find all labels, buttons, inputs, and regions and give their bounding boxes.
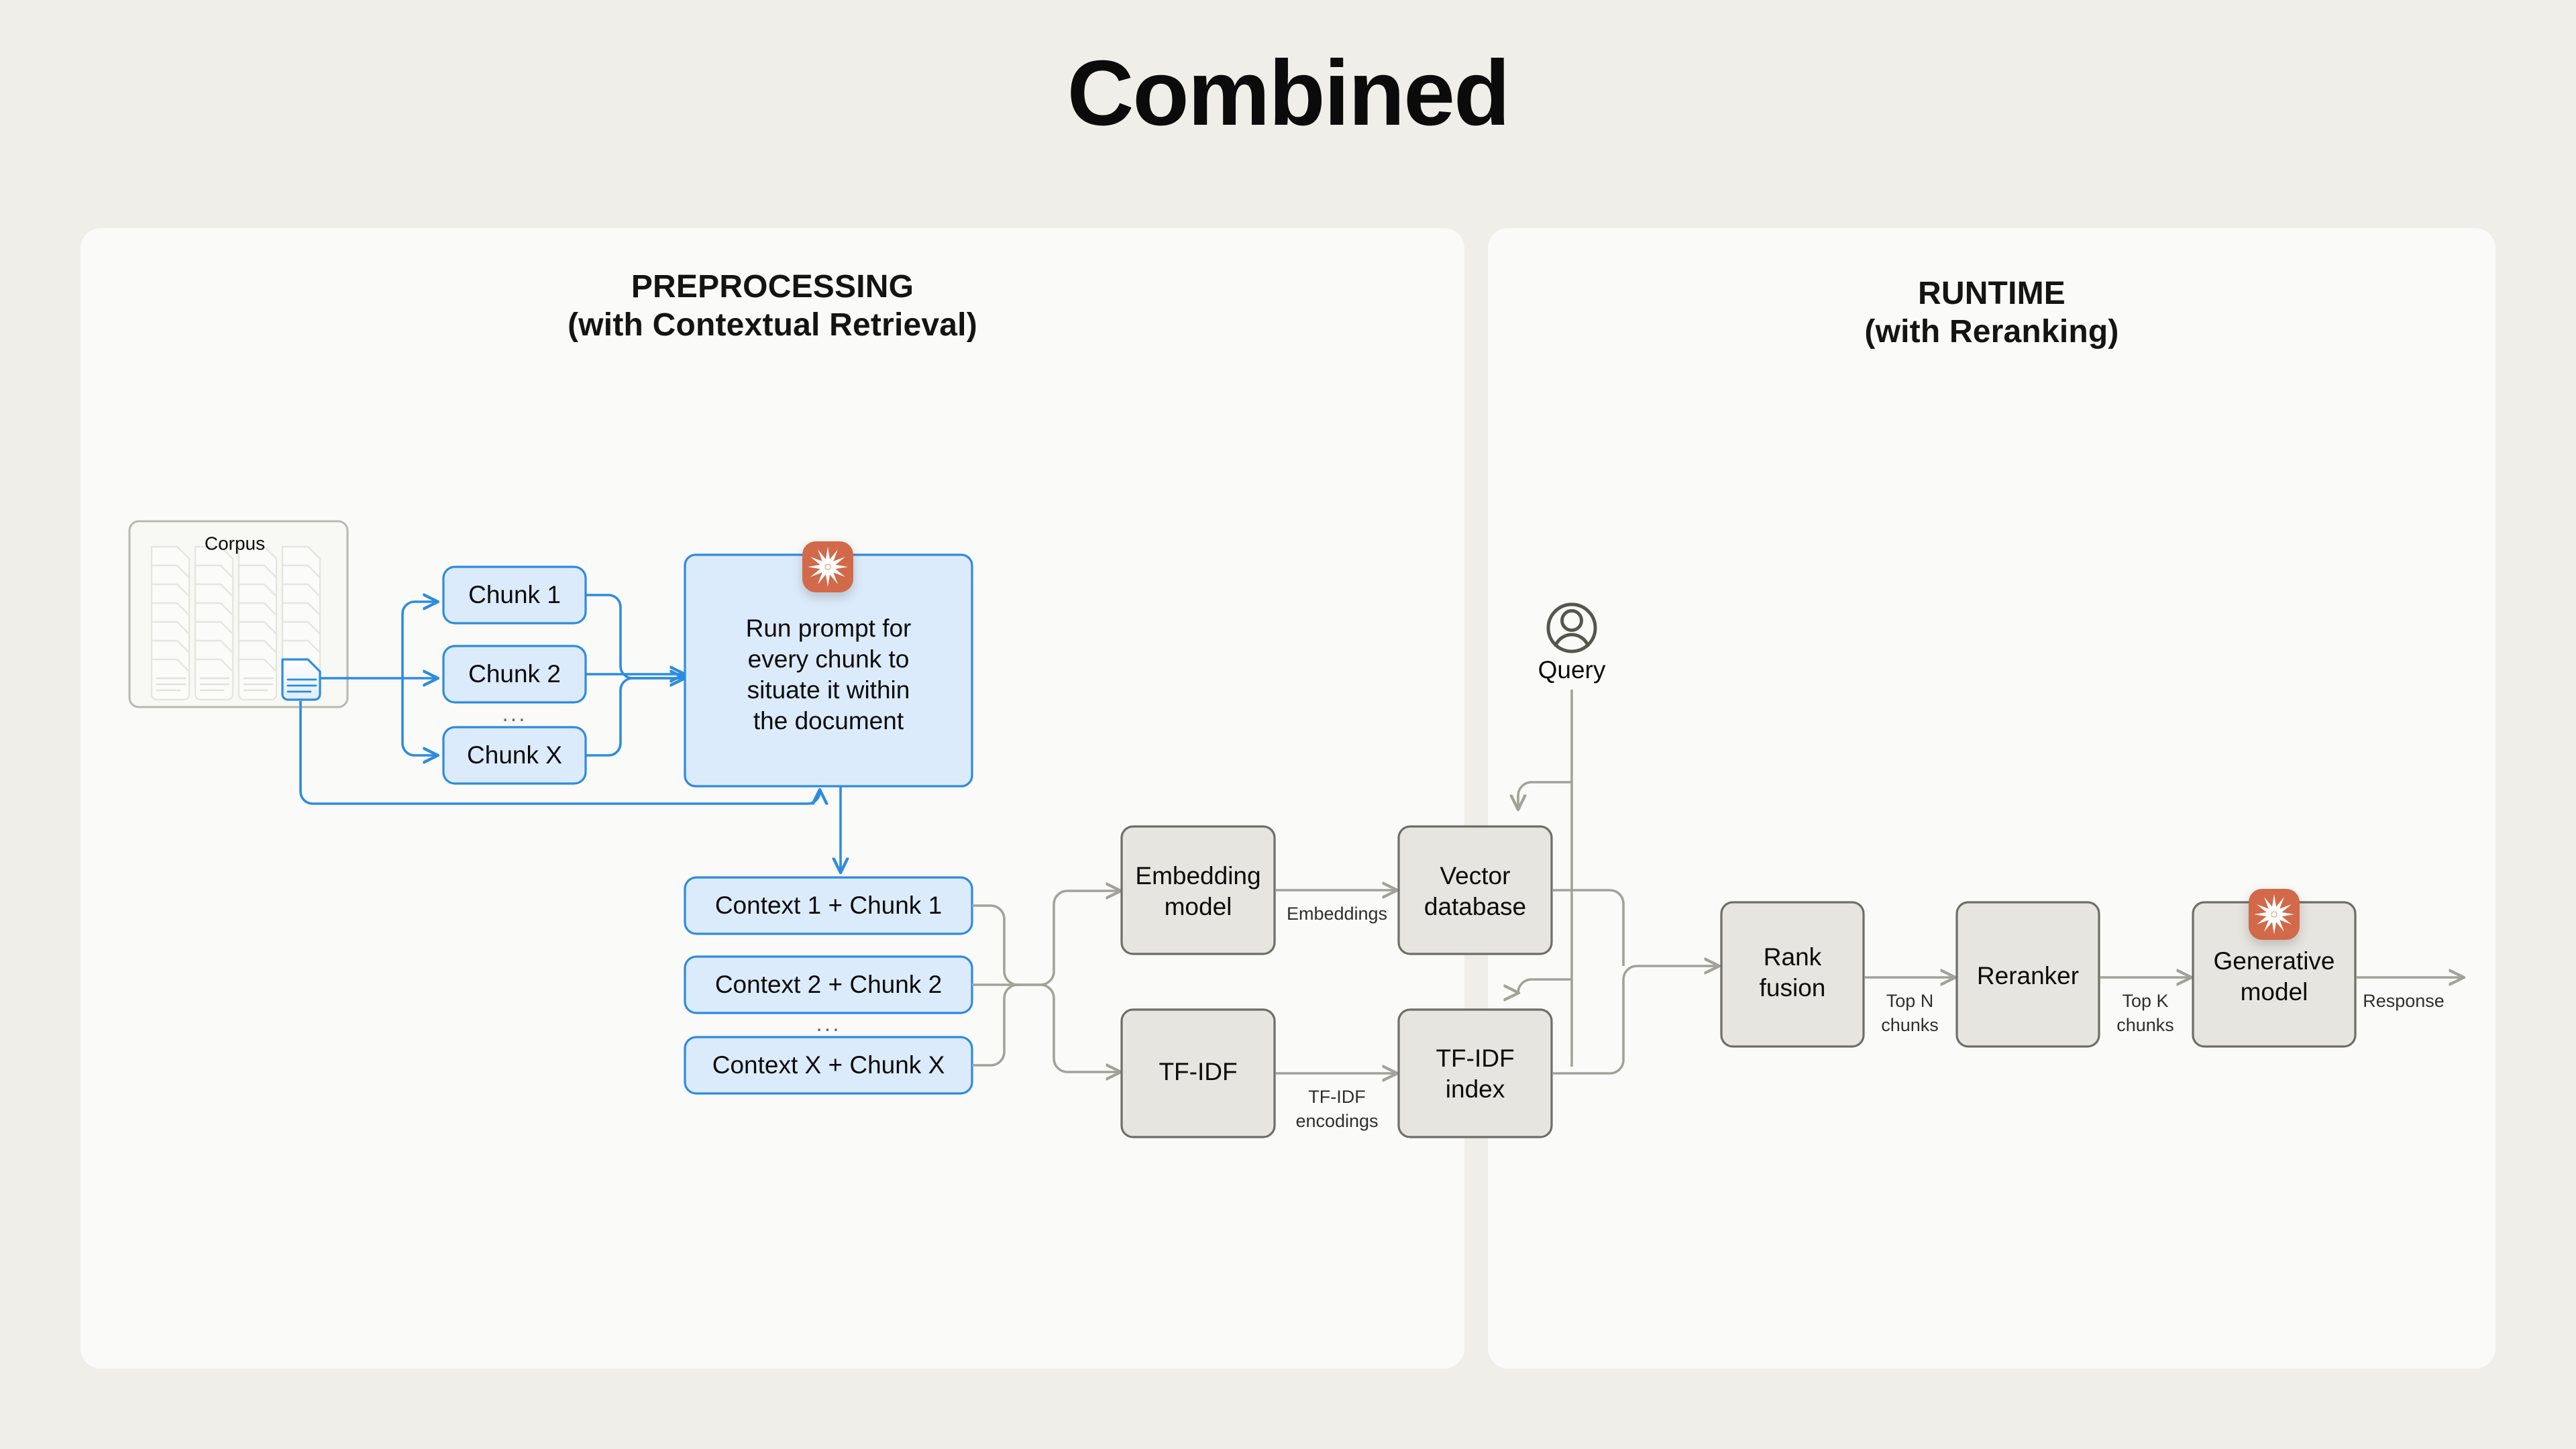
vector-db-line1: Vector (1440, 862, 1511, 890)
tfidf-label: TF-IDF (1159, 1058, 1237, 1085)
context-x-label: Context X + Chunk X (712, 1051, 945, 1079)
rank-fusion-line1: Rank (1764, 943, 1822, 971)
rank-fusion-node: Rank fusion (1721, 902, 1864, 1046)
corpus-label: Corpus (205, 533, 265, 553)
embeddings-edge-label: Embeddings (1287, 904, 1387, 924)
rank-fusion-line2: fusion (1760, 974, 1826, 1002)
embeddings-edge: Embeddings (1275, 890, 1397, 924)
corpus-node: Corpus (129, 521, 347, 707)
top-n-line1: Top N (1886, 991, 1934, 1011)
query-node: Query (1538, 604, 1606, 684)
flow-diagram: Corpus Chunk 1 Chunk 2 ... Chunk X Run p… (0, 0, 2576, 1449)
chunks-to-prompt-connectors (586, 595, 684, 755)
top-n-edge: Top N chunks (1864, 977, 1955, 1035)
top-n-line2: chunks (1881, 1015, 1939, 1035)
context-1-label: Context 1 + Chunk 1 (715, 892, 942, 919)
context-ellipsis: ... (816, 1011, 841, 1036)
vector-database-node: Vector database (1399, 826, 1552, 954)
tfidf-encodings-line1: TF-IDF (1308, 1087, 1365, 1107)
query-label: Query (1538, 656, 1606, 684)
chunk-1-label: Chunk 1 (468, 581, 561, 608)
context-x-node: Context X + Chunk X (685, 1037, 972, 1093)
top-k-line1: Top K (2122, 991, 2168, 1011)
tfidf-node: TF-IDF (1122, 1010, 1275, 1137)
tfidf-encodings-edge: TF-IDF encodings (1275, 1073, 1397, 1131)
chunk-2-node: Chunk 2 (443, 646, 586, 702)
chunks-ellipsis: ... (502, 701, 527, 727)
chunk-x-label: Chunk X (467, 741, 562, 769)
corpus-highlighted-document-icon (282, 659, 320, 700)
anthropic-starburst-icon (2249, 889, 2300, 940)
tfidf-index-line1: TF-IDF (1436, 1044, 1514, 1072)
reranker-label: Reranker (1977, 962, 2079, 989)
chunk-2-label: Chunk 2 (468, 660, 561, 688)
top-k-line2: chunks (2116, 1015, 2174, 1035)
response-edge: Response (2356, 977, 2463, 1011)
prompt-line-1: Run prompt for (746, 614, 912, 642)
index-to-rank-fusion-connectors (1552, 890, 1719, 1073)
context-2-label: Context 2 + Chunk 2 (715, 971, 942, 998)
chunk-1-node: Chunk 1 (443, 567, 586, 623)
embedding-model-line1: Embedding (1135, 862, 1260, 890)
tfidf-index-node: TF-IDF index (1399, 1010, 1552, 1137)
user-circle-icon (1548, 604, 1595, 651)
tfidf-encodings-line2: encodings (1295, 1111, 1378, 1131)
embedding-model-line2: model (1165, 893, 1232, 920)
reranker-node: Reranker (1957, 902, 2099, 1046)
response-label: Response (2363, 991, 2445, 1011)
context-to-index-connectors (972, 891, 1120, 1072)
prompt-line-3: situate it within (747, 676, 910, 704)
embedding-model-node: Embedding model (1122, 826, 1275, 954)
anthropic-starburst-icon (802, 541, 853, 592)
top-k-edge: Top K chunks (2100, 977, 2191, 1035)
tfidf-index-line2: index (1446, 1075, 1505, 1103)
prompt-line-2: every chunk to (748, 645, 910, 673)
generative-model-line2: model (2241, 978, 2308, 1006)
context-1-node: Context 1 + Chunk 1 (685, 877, 972, 934)
context-2-node: Context 2 + Chunk 2 (685, 957, 972, 1013)
prompt-line-4: the document (753, 707, 904, 735)
vector-db-line2: database (1424, 893, 1526, 920)
chunk-x-node: Chunk X (443, 727, 586, 784)
generative-model-line1: Generative (2214, 947, 2335, 975)
